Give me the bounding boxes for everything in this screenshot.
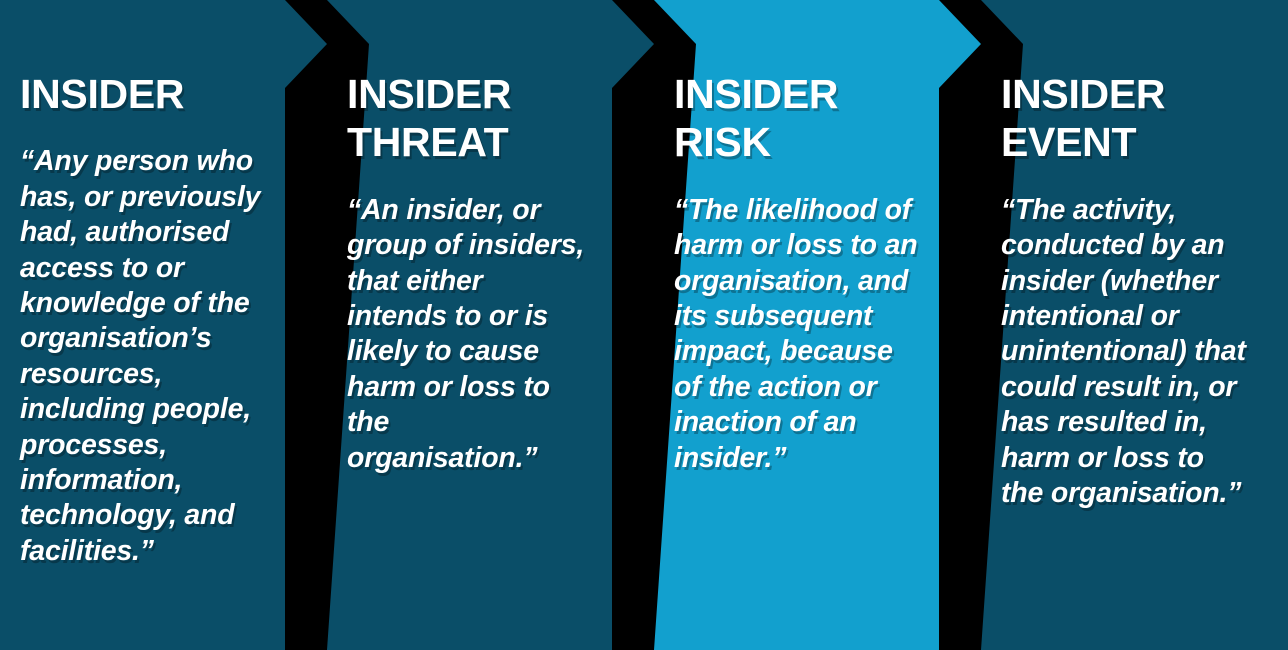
panel-quote-insider-threat: “An insider, or group of insiders, that …: [347, 193, 587, 476]
panel-content-insider: INSIDER “Any person who has, or previous…: [0, 0, 327, 569]
panel-heading-insider: INSIDER: [20, 70, 280, 118]
panel-quote-insider: “Any person who has, or previously had, …: [20, 144, 270, 569]
panel-content-insider-event: INSIDER EVENT “The activity, conducted b…: [981, 0, 1288, 511]
chevron-panel-insider-event[interactable]: INSIDER EVENT “The activity, conducted b…: [981, 0, 1288, 650]
panel-content-insider-risk: INSIDER RISK “The likelihood of harm or …: [654, 0, 981, 476]
panel-heading-insider-threat: INSIDER THREAT: [347, 70, 577, 167]
panel-quote-insider-event: “The activity, conducted by an insider (…: [1001, 193, 1251, 512]
chevron-panel-insider-risk[interactable]: INSIDER RISK “The likelihood of harm or …: [654, 0, 981, 650]
panel-content-insider-threat: INSIDER THREAT “An insider, or group of …: [327, 0, 654, 476]
panel-quote-insider-risk: “The likelihood of harm or loss to an or…: [674, 193, 922, 476]
chevron-panel-insider[interactable]: INSIDER “Any person who has, or previous…: [0, 0, 327, 650]
chevron-panel-insider-threat[interactable]: INSIDER THREAT “An insider, or group of …: [327, 0, 654, 650]
panel-heading-insider-event: INSIDER EVENT: [1001, 70, 1231, 167]
panel-heading-insider-risk: INSIDER RISK: [674, 70, 904, 167]
diagram-canvas: INSIDER “Any person who has, or previous…: [0, 0, 1288, 650]
